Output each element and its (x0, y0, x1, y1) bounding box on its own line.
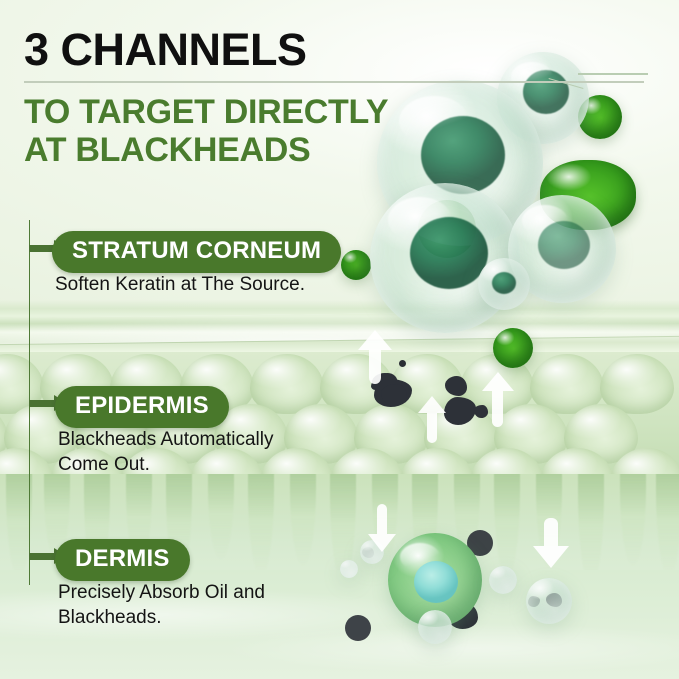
dermis-fiber (620, 474, 646, 566)
channel-label-stratum-corneum[interactable]: STRATUM CORNEUM (52, 231, 341, 273)
dermis-fiber (248, 474, 274, 576)
page-title: 3 CHANNELS (24, 26, 307, 73)
page-subtitle: TO TARGET DIRECTLY AT BLACKHEADS (24, 93, 388, 169)
blackhead-speck (399, 360, 406, 367)
channel-label-epidermis[interactable]: EPIDERMIS (55, 386, 229, 428)
dermis-fiber (290, 474, 316, 566)
channel-description-dermis: Precisely Absorb Oil and Blackheads. (58, 580, 265, 630)
small-bubble (340, 560, 358, 578)
blackhead-blob-icon (474, 405, 488, 418)
green-sphere (493, 328, 533, 368)
glass-bubble (478, 258, 530, 310)
small-bubble (526, 578, 572, 624)
green-sphere (341, 250, 371, 280)
small-bubble (489, 566, 517, 594)
small-bubble (418, 610, 452, 644)
title-divider (24, 81, 644, 83)
callout-line (578, 73, 648, 75)
infographic-poster: 3 CHANNELS TO TARGET DIRECTLY AT BLACKHE… (0, 0, 679, 679)
channel-description-stratum-corneum: Soften Keratin at The Source. (55, 272, 305, 297)
blackhead-cluster-icon (345, 615, 371, 641)
channel-label-dermis[interactable]: DERMIS (55, 539, 190, 581)
blackhead-blob-icon (445, 376, 467, 396)
dermis-fiber (208, 474, 234, 560)
dermis-fiber (656, 474, 679, 576)
channel-description-epidermis: Blackheads Automatically Come Out. (58, 427, 273, 477)
blackhead-blob-icon (381, 384, 407, 406)
dermis-fiber (494, 474, 520, 578)
